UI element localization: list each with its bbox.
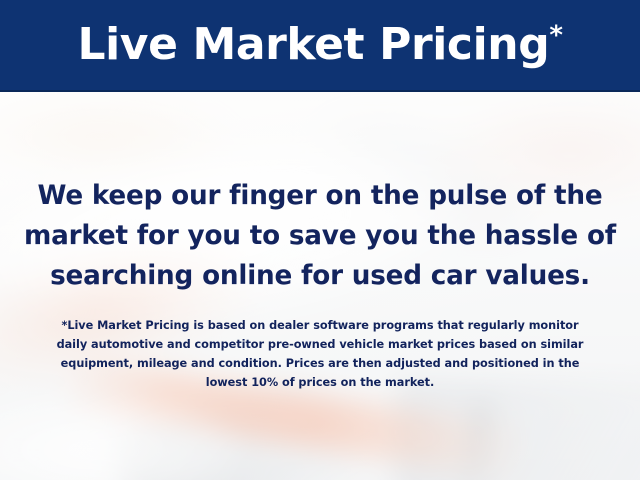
disclaimer-line-2: daily automotive and competitor pre-owne… (30, 335, 610, 354)
headline-text: We keep our finger on the pulse of the m… (0, 176, 640, 296)
headline-line-1: We keep our finger on the pulse of the (0, 176, 640, 216)
page-title: Live Market Pricing* (77, 23, 562, 67)
page-title-asterisk: * (549, 20, 562, 50)
background-warm-highlight-top (0, 92, 240, 182)
disclaimer-line-4: lowest 10% of prices on the market. (30, 373, 610, 392)
disclaimer-line-3: equipment, mileage and condition. Prices… (30, 354, 610, 373)
disclaimer-line-1: *Live Market Pricing is based on dealer … (30, 316, 610, 335)
headline-line-3: searching online for used car values. (0, 256, 640, 296)
header-banner: Live Market Pricing* (0, 0, 640, 92)
background-white-lowlight (0, 395, 240, 480)
disclaimer-text: *Live Market Pricing is based on dealer … (30, 316, 610, 392)
live-market-pricing-slide: Live Market Pricing* We keep our finger … (0, 0, 640, 480)
page-title-text: Live Market Pricing (77, 19, 549, 70)
background-grey-panel-right (395, 380, 640, 480)
background-panel-seam (463, 400, 490, 480)
headline-line-2: market for you to save you the hassle of (0, 216, 640, 256)
